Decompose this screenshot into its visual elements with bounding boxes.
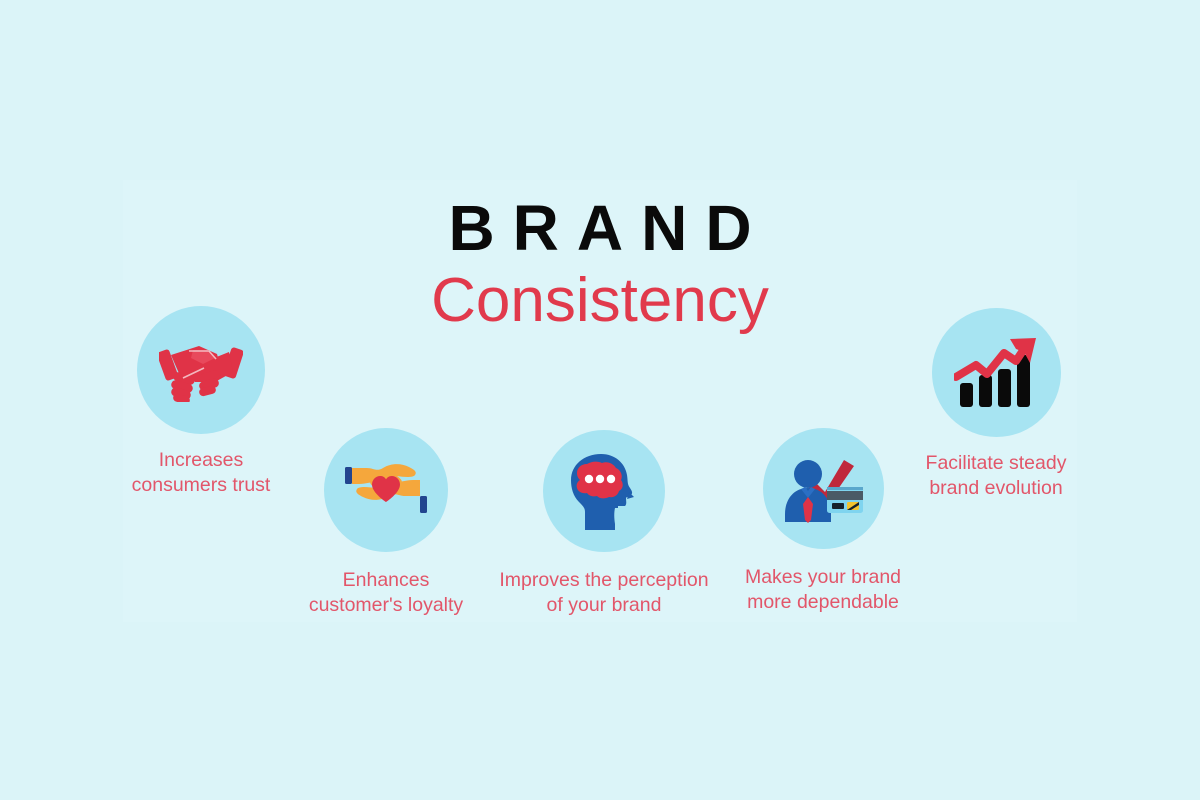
head-brain-thought-icon [567,452,641,530]
handshake-icon [159,338,243,402]
benefit-caption-dependable: Makes your brand more dependable [698,565,948,615]
benefit-icon-circle-evolution [932,308,1061,437]
businessman-checkmark-card-icon [782,452,864,526]
growth-chart-arrow-icon [954,337,1038,409]
benefit-icon-circle-dependable [763,428,884,549]
benefit-icon-circle-perception [543,430,665,552]
benefit-icon-circle-loyalty [324,428,448,552]
hands-holding-heart-icon [343,457,429,523]
benefit-caption-evolution: Facilitate steady brand evolution [871,451,1121,501]
benefit-caption-perception: Improves the perception of your brand [474,568,734,618]
infographic-canvas: BRAND Consistency [0,0,1200,800]
benefit-icon-circle-trust [137,306,265,434]
benefit-item-perception[interactable]: Improves the perception of your brand [479,430,729,618]
benefit-item-evolution[interactable]: Facilitate steady brand evolution [871,308,1121,501]
